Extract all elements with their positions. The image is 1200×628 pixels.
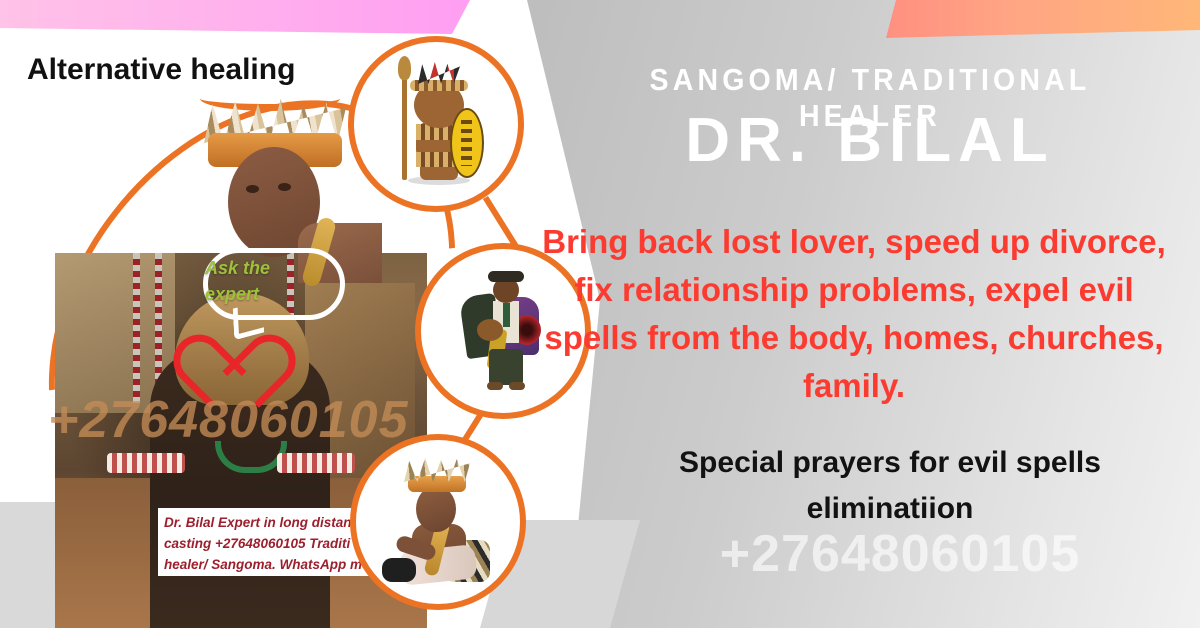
- shoe-icon: [487, 382, 503, 390]
- zulu-warrior-boy-icon: [388, 60, 484, 184]
- hat-icon: [488, 271, 524, 282]
- caption-line-2: casting +27648060105 Traditi: [164, 533, 382, 554]
- photo-watermark-phone: +27648060105: [48, 390, 409, 450]
- ghost-phone-number: +27648060105: [600, 524, 1200, 584]
- services-pitch-text: Bring back lost lover, speed up divorce,…: [534, 218, 1174, 410]
- ask-the-expert-text: Ask the expert: [205, 255, 355, 307]
- ask-the-expert-line-2: expert: [205, 281, 355, 307]
- ask-the-expert-line-1: Ask the: [205, 255, 355, 281]
- special-prayers-text: Special prayers for evil spells eliminat…: [600, 440, 1180, 532]
- shoe-icon: [509, 382, 525, 390]
- page-title: Alternative healing: [27, 53, 295, 87]
- figure-eye: [246, 185, 259, 193]
- special-prayers-line-1: Special prayers for evil spells: [600, 440, 1180, 486]
- drum-icon: [477, 319, 503, 341]
- figure-eye: [278, 183, 291, 191]
- figure-head: [416, 486, 456, 532]
- gray-wedge-left: [0, 502, 58, 628]
- circle-bubble-zulu-dancer: [350, 434, 526, 610]
- spear-tip: [398, 56, 411, 80]
- shield-icon: [450, 108, 484, 178]
- black-plume: [382, 558, 416, 582]
- necktie-icon: [503, 303, 510, 327]
- zulu-dancer-icon: [374, 462, 500, 584]
- poster-canvas: Alternative healing Ask the e: [0, 0, 1200, 628]
- pink-accent-bar: [0, 0, 470, 34]
- figure-legs: [489, 349, 523, 385]
- circle-bubble-zulu-warrior: [348, 36, 524, 212]
- caption-line-3: healer/ Sangoma. WhatsApp me: [164, 554, 382, 575]
- brand-name: DR. BILAL: [570, 105, 1170, 176]
